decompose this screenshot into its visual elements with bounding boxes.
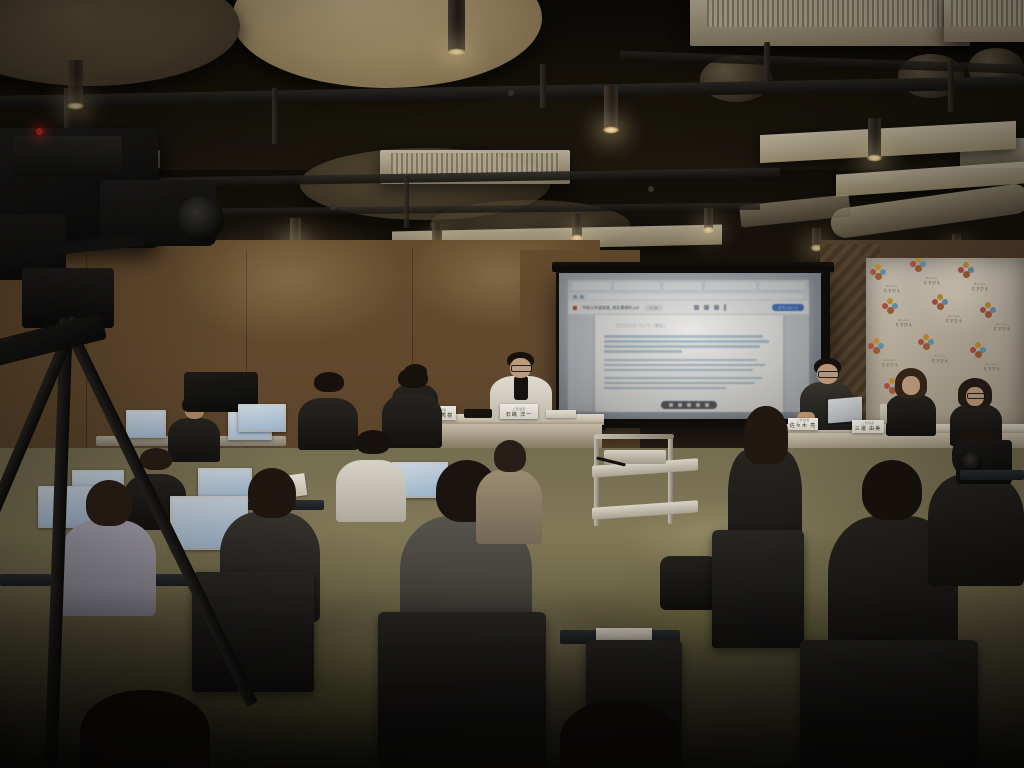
address-input[interactable] [587,294,804,299]
pdf-floating-toolbar[interactable] [661,401,717,409]
banner-logo-text: Musubie むすびえ [918,356,962,364]
pdf-canvas: 〇〇〇〇について（報告） [568,315,809,411]
attendee-center-back [476,440,542,540]
browser-tab[interactable] [614,282,660,290]
banner-logo: Musubie むすびえ [918,334,962,364]
ceiling-ac-unit [690,0,970,46]
banner-logo-text: Musubie むすびえ [882,320,926,328]
browser-address-bar[interactable] [568,292,809,301]
sprinkler-head [508,90,514,96]
zoom-in-icon[interactable] [678,403,682,407]
flower-cluster-icon [882,298,899,315]
ac-grille [951,0,1024,26]
attendee-foreground-head [80,690,210,768]
projection-screen: 令和元年度調査_報告書資料.pdf 1 / 12 ダウンロード 〇〇〇〇について… [556,270,830,428]
camera-lens [178,196,224,242]
pdf-paragraph [604,335,774,352]
attendee-foreground-head [560,700,680,768]
pdf-page-indicator: 1 / 12 [644,305,663,311]
cart-handle[interactable] [594,434,674,439]
camera-lens [962,452,982,472]
projected-browser-window: 令和元年度調査_報告書資料.pdf 1 / 12 ダウンロード 〇〇〇〇について… [568,280,809,411]
flower-cluster-icon [932,294,949,311]
pendant-light [68,60,83,106]
chair[interactable] [712,530,804,648]
pendant-light [572,214,582,238]
sprinkler-head [330,204,336,210]
glasses [511,365,532,372]
flower-cluster-icon [970,342,987,359]
pdf-heading: 〇〇〇〇について（報告） [616,323,774,329]
press-laptop[interactable] [126,410,166,438]
browser-tab[interactable] [572,282,611,290]
pendant-light [704,208,713,230]
sprinkler-head [648,186,654,192]
banner-logo-text: Musubie むすびえ [910,278,954,286]
cart-shelf-bottom [592,500,698,519]
banner-logo-text: Musubie むすびえ [932,316,976,324]
rotate-icon[interactable] [696,403,700,407]
camera-viewfinder-hood [14,136,122,176]
banner-logo-text: Musubie むすびえ [980,324,1024,332]
press-laptop[interactable] [238,404,286,432]
ceiling-hanger [404,176,409,228]
press-conference-photo: Musubie むすびえ Musubie むすびえ [0,0,1024,768]
microphone-base [464,409,492,418]
flower-cluster-icon [980,302,997,319]
ceiling-hanger [764,42,770,82]
ac-grille [707,0,953,27]
ceiling-beam [620,51,1024,75]
pdf-paragraph [604,377,774,389]
laptop-screen [128,412,164,436]
banner-logo: Musubie むすびえ [932,294,976,324]
pendant-light [448,0,465,52]
journalist-foreground [60,480,156,612]
zoom-out-icon[interactable] [669,403,673,407]
pdf-file-icon [573,306,577,310]
flower-cluster-icon [918,334,935,351]
pdf-filename: 令和元年度調査_報告書資料.pdf [582,305,639,311]
placard-name: 石嶋 洋一 [506,411,532,418]
browser-tab-bar [568,280,809,292]
banner-logo: Musubie むすびえ [882,298,926,328]
flower-cluster-icon [958,262,975,279]
flower-cluster-icon [870,264,887,281]
pdf-paragraph [604,359,774,371]
back-icon[interactable] [573,295,577,299]
pdf-viewer-toolbar: 令和元年度調査_報告書資料.pdf 1 / 12 ダウンロード [568,301,809,315]
banner-logo: Musubie むすびえ [958,262,1002,292]
screen-surface: 令和元年度調査_報告書資料.pdf 1 / 12 ダウンロード 〇〇〇〇について… [559,273,821,419]
glasses [967,393,985,399]
laptop-screen [240,406,284,430]
inner-shirt [514,376,528,400]
backpack [660,556,718,610]
banner-logo: Musubie むすびえ [970,342,1014,372]
pdf-page: 〇〇〇〇について（報告） [595,315,783,411]
browser-tab[interactable] [759,282,805,290]
rotate-icon[interactable] [714,305,719,310]
more-vert-icon[interactable] [724,304,726,311]
name-placard: ご登壇者 三浦 由美 [852,420,884,433]
ac-grille [391,153,558,174]
browser-tab[interactable] [705,282,756,290]
chair[interactable] [800,640,978,768]
banner-logo-text: Musubie むすびえ [868,360,912,368]
browser-tab[interactable] [663,282,702,290]
acoustic-disc [0,0,240,86]
banner-logo: Musubie むすびえ [980,302,1024,332]
pendant-light [604,86,618,130]
download-button[interactable]: ダウンロード [772,304,804,311]
ceiling-hanger [540,64,546,108]
fit-page-icon[interactable] [687,403,691,407]
name-placard: ご登壇者 石嶋 洋一 [500,404,538,419]
pendant-light [868,118,881,158]
press-desk [960,470,1024,480]
plus-icon[interactable] [705,403,709,407]
ceiling-hanger [272,88,278,144]
flower-cluster-icon [868,338,885,355]
tally-light [36,128,43,135]
download-icon[interactable] [694,305,699,310]
ceiling-ac-unit [944,0,1024,42]
panelist-woman-1 [886,370,936,432]
banner-logo: Musubie むすびえ [870,264,914,294]
banner-logo-text: Musubie むすびえ [970,364,1014,372]
placard-name: 三浦 由美 [855,425,881,432]
chair[interactable] [378,612,546,768]
face [902,376,920,395]
flower-cluster-icon [910,258,927,273]
glasses [818,371,839,378]
av-cart [592,432,704,528]
journalist [336,430,406,516]
print-icon[interactable] [704,305,709,310]
banner-logo: Musubie むすびえ [910,258,954,286]
banner-logo-text: Musubie むすびえ [958,284,1002,292]
banner-logo-text: Musubie むすびえ [870,286,914,294]
forward-icon[interactable] [580,295,584,299]
banner-logo: Musubie むすびえ [868,338,912,368]
ceiling-hanger [948,60,954,112]
acoustic-disc [232,0,542,88]
paper-stack [546,410,576,418]
